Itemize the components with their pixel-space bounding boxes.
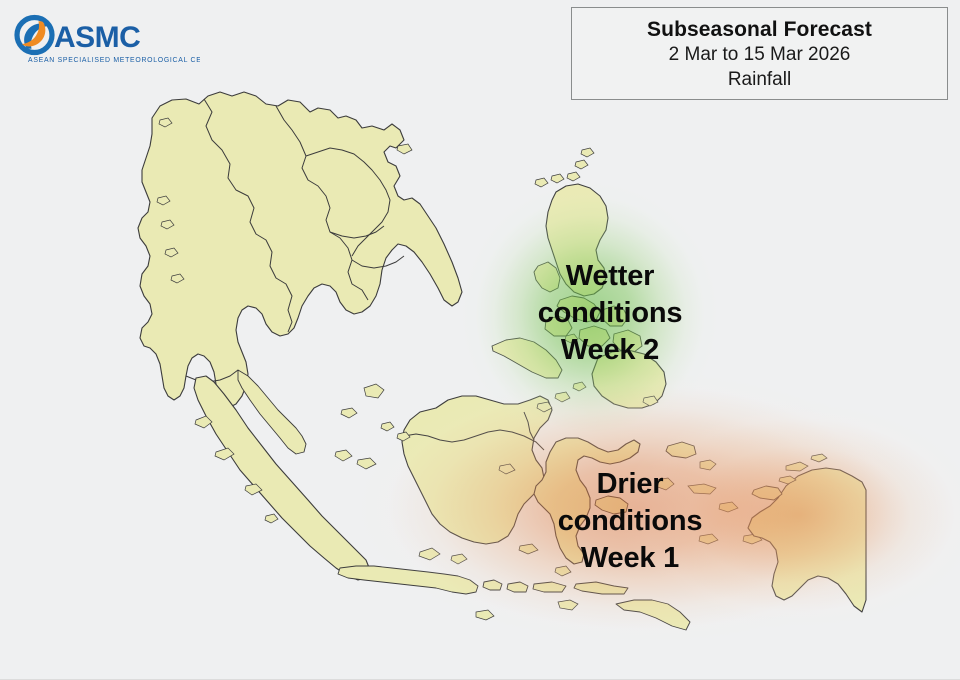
drier-label-line-3: Week 1 (440, 540, 820, 577)
asmc-logo: ASMC ASEAN SPECIALISED METEOROLOGICAL CE… (14, 14, 200, 70)
drier-label-line-1: Drier (440, 466, 820, 503)
forecast-variable: Rainfall (728, 68, 791, 92)
asmc-wordmark: ASMC (54, 21, 140, 54)
asmc-tagline: ASEAN SPECIALISED METEOROLOGICAL CENTRE (28, 57, 200, 64)
page-title: Subseasonal Forecast (647, 17, 872, 43)
forecast-title-box: Subseasonal Forecast 2 Mar to 15 Mar 202… (571, 7, 948, 100)
wetter-label-line-3: Week 2 (430, 332, 790, 369)
drier-conditions-label: Drier conditions Week 1 (440, 466, 820, 577)
forecast-map-page: .land { fill: #eaeab4; stroke: #3c3c3c; … (0, 0, 960, 680)
forecast-period: 2 Mar to 15 Mar 2026 (669, 43, 851, 67)
asmc-logo-mark (17, 18, 52, 53)
drier-label-line-2: conditions (440, 503, 820, 540)
wetter-label-line-2: conditions (430, 295, 790, 332)
wetter-label-line-1: Wetter (430, 258, 790, 295)
wetter-conditions-label: Wetter conditions Week 2 (430, 258, 790, 369)
